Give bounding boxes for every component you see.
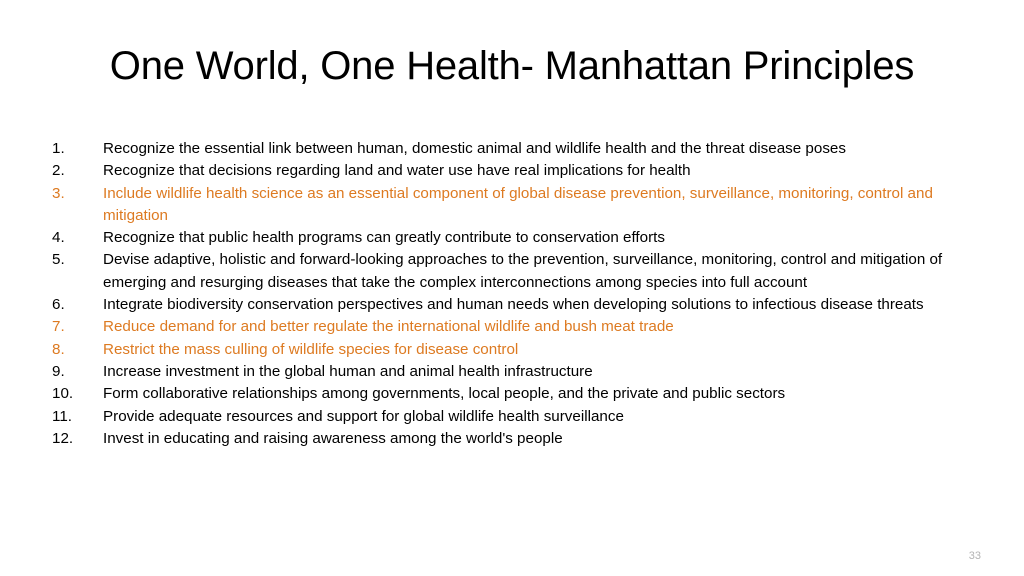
list-item: 1.Recognize the essential link between h…: [52, 138, 970, 160]
list-item-marker: 7.: [52, 316, 103, 338]
list-item: 8.Restrict the mass culling of wildlife …: [52, 339, 970, 361]
list-item-text: Restrict the mass culling of wildlife sp…: [103, 339, 965, 361]
list-item-marker: 6.: [52, 294, 103, 316]
list-item-marker: 2.: [52, 160, 103, 182]
list-item-marker: 5.: [52, 249, 103, 271]
list-item: 2.Recognize that decisions regarding lan…: [52, 160, 970, 182]
list-item: 9.Increase investment in the global huma…: [52, 361, 970, 383]
list-item-marker: 8.: [52, 339, 103, 361]
list-item-text: Recognize the essential link between hum…: [103, 138, 965, 160]
page-title: One World, One Health- Manhattan Princip…: [0, 40, 1024, 92]
list-item: 11.Provide adequate resources and suppor…: [52, 406, 970, 428]
list-item-text: Increase investment in the global human …: [103, 361, 965, 383]
list-item-marker: 10.: [52, 383, 103, 405]
list-item-marker: 3.: [52, 183, 103, 205]
list-item-text: Form collaborative relationships among g…: [103, 383, 965, 405]
list-item: 3.Include wildlife health science as an …: [52, 183, 970, 228]
list-item-text: Recognize that decisions regarding land …: [103, 160, 965, 182]
list-item-marker: 9.: [52, 361, 103, 383]
list-item-marker: 1.: [52, 138, 103, 160]
page-number: 33: [969, 550, 981, 563]
list-item: 7.Reduce demand for and better regulate …: [52, 316, 970, 338]
list-item-marker: 11.: [52, 406, 103, 428]
slide: One World, One Health- Manhattan Princip…: [0, 0, 1024, 576]
list-item-text: Recognize that public health programs ca…: [103, 227, 965, 249]
list-item-text: Devise adaptive, holistic and forward-lo…: [103, 249, 965, 294]
list-item: 5.Devise adaptive, holistic and forward-…: [52, 249, 970, 294]
list-item: 4.Recognize that public health programs …: [52, 227, 970, 249]
list-item-text: Invest in educating and raising awarenes…: [103, 428, 965, 450]
list-item-text: Include wildlife health science as an es…: [103, 183, 965, 228]
list-item: 6.Integrate biodiversity conservation pe…: [52, 294, 970, 316]
list-item: 12.Invest in educating and raising aware…: [52, 428, 970, 450]
list-item-marker: 4.: [52, 227, 103, 249]
list-item-marker: 12.: [52, 428, 103, 450]
list-item-text: Provide adequate resources and support f…: [103, 406, 965, 428]
list-item: 10.Form collaborative relationships amon…: [52, 383, 970, 405]
list-item-text: Integrate biodiversity conservation pers…: [103, 294, 965, 316]
list-item-text: Reduce demand for and better regulate th…: [103, 316, 965, 338]
principles-list: 1.Recognize the essential link between h…: [52, 138, 970, 450]
